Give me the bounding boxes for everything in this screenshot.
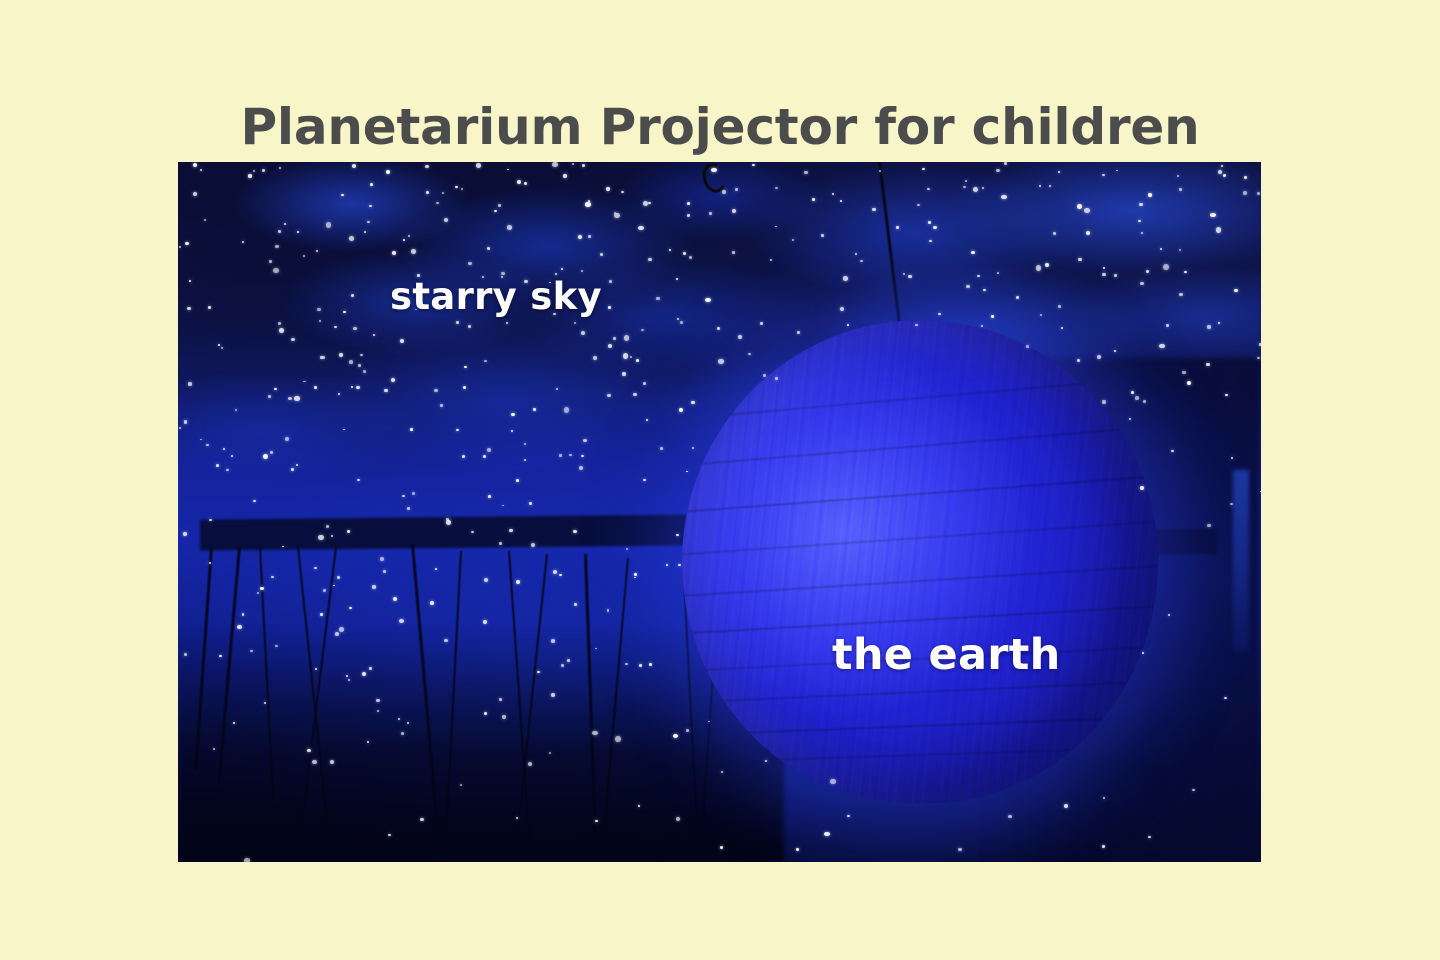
star-dot <box>524 182 527 185</box>
star-dot <box>633 393 637 396</box>
star-dot <box>879 170 881 172</box>
star-dot <box>1143 400 1146 403</box>
star-dot <box>468 262 472 265</box>
star-dot <box>200 169 202 171</box>
star-dot <box>634 573 637 576</box>
star-dot <box>209 562 211 564</box>
star-dot <box>748 353 751 355</box>
star-dot <box>303 255 305 257</box>
star-dot <box>732 209 736 213</box>
star-dot <box>462 455 465 458</box>
star-dot <box>908 275 912 279</box>
star-dot <box>320 356 323 359</box>
star-dot <box>349 607 352 610</box>
star-dot <box>402 495 405 498</box>
star-dot <box>1039 185 1041 187</box>
star-dot <box>270 451 273 453</box>
star-dot <box>483 620 487 624</box>
star-dot <box>370 183 373 186</box>
star-dot <box>333 585 335 587</box>
star-dot <box>264 702 266 704</box>
star-dot <box>564 407 570 412</box>
star-dot <box>223 448 225 450</box>
star-dot <box>456 321 459 324</box>
star-dot <box>927 188 930 190</box>
star-dot <box>1129 418 1131 420</box>
star-dot <box>372 585 376 588</box>
star-dot <box>643 201 649 207</box>
star-dot <box>678 564 680 566</box>
star-dot <box>556 388 558 390</box>
star-dot <box>1160 248 1162 250</box>
star-dot <box>1058 171 1060 173</box>
star-dot <box>903 273 905 275</box>
star-dot <box>386 170 390 174</box>
star-dot <box>231 455 233 457</box>
star-dot <box>502 715 506 719</box>
page-title: Planetarium Projector for children <box>0 96 1440 158</box>
star-dot <box>585 202 591 207</box>
star-dot <box>291 468 294 471</box>
star-dot <box>529 502 532 505</box>
star-dot <box>248 174 252 177</box>
star-dot <box>843 276 849 281</box>
star-dot <box>391 378 395 382</box>
star-dot <box>830 779 836 785</box>
star-dot <box>275 245 279 248</box>
star-dot <box>1116 170 1118 172</box>
star-dot <box>765 760 767 762</box>
star-dot <box>692 447 694 449</box>
star-dot <box>559 574 562 576</box>
star-field <box>178 162 1261 862</box>
star-dot <box>294 396 300 401</box>
star-dot <box>669 249 671 251</box>
star-dot <box>775 226 777 228</box>
star-dot <box>398 718 400 720</box>
star-dot <box>208 306 211 309</box>
star-dot <box>708 721 710 723</box>
star-dot <box>1218 170 1222 174</box>
star-dot <box>606 187 610 191</box>
star-dot <box>291 338 295 341</box>
star-dot <box>735 188 738 191</box>
star-dot <box>679 408 683 412</box>
star-dot <box>376 699 380 702</box>
star-dot <box>966 285 970 288</box>
star-dot <box>624 335 630 340</box>
star-dot <box>689 256 692 259</box>
star-dot <box>569 454 571 456</box>
star-dot <box>965 180 967 182</box>
star-dot <box>193 163 197 167</box>
star-dot <box>516 817 518 819</box>
star-dot <box>1140 486 1144 490</box>
star-dot <box>216 464 219 467</box>
star-dot <box>253 500 255 502</box>
star-dot <box>412 492 415 495</box>
star-dot <box>1077 204 1083 209</box>
star-dot <box>279 167 281 169</box>
star-dot <box>582 164 585 167</box>
star-dot <box>929 240 932 242</box>
star-dot <box>471 531 474 533</box>
star-dot <box>549 752 551 754</box>
star-dot <box>615 736 621 742</box>
star-dot <box>963 186 966 188</box>
star-dot <box>559 454 562 456</box>
star-dot <box>221 347 223 349</box>
star-dot <box>1103 797 1105 799</box>
star-dot <box>686 729 689 732</box>
star-dot <box>499 698 502 701</box>
caption-starry-sky: starry sky <box>390 275 602 318</box>
star-dot <box>444 218 448 222</box>
star-dot <box>732 251 735 253</box>
star-dot <box>362 672 366 676</box>
star-dot <box>420 818 424 821</box>
star-dot <box>343 311 346 314</box>
star-dot <box>660 447 663 450</box>
star-dot <box>384 389 388 393</box>
star-dot <box>348 679 350 681</box>
star-dot <box>643 479 645 481</box>
star-dot <box>763 374 766 377</box>
star-dot <box>1142 652 1144 654</box>
star-dot <box>997 272 999 274</box>
star-dot <box>335 632 339 636</box>
star-dot <box>593 356 597 359</box>
star-dot <box>804 171 808 175</box>
star-dot <box>621 191 624 194</box>
star-dot <box>638 805 640 807</box>
star-dot <box>347 530 350 533</box>
star-dot <box>561 664 564 667</box>
star-dot <box>392 251 396 254</box>
star-dot <box>832 193 834 195</box>
star-dot <box>1077 359 1080 362</box>
star-dot <box>1210 213 1216 217</box>
star-dot <box>1148 836 1151 838</box>
star-dot <box>278 322 281 325</box>
star-dot <box>676 534 678 536</box>
star-dot <box>401 732 404 735</box>
star-dot <box>1138 220 1141 223</box>
star-dot <box>1061 327 1063 329</box>
star-dot <box>383 570 386 573</box>
star-dot <box>507 225 513 230</box>
star-dot <box>991 315 994 318</box>
star-dot <box>320 613 323 616</box>
star-dot <box>1234 289 1238 293</box>
star-dot <box>760 322 763 325</box>
star-dot <box>502 505 504 507</box>
star-dot <box>185 242 189 245</box>
star-dot <box>351 386 353 388</box>
star-dot <box>687 202 690 205</box>
star-dot <box>983 289 986 291</box>
star-dot <box>1139 203 1143 207</box>
star-dot <box>1230 503 1233 505</box>
star-dot <box>573 530 577 533</box>
star-dot <box>1159 344 1165 349</box>
star-dot <box>410 428 413 431</box>
star-dot <box>1184 271 1186 273</box>
star-dot <box>357 479 360 482</box>
star-dot <box>339 353 343 357</box>
star-dot <box>179 427 181 429</box>
star-dot <box>213 748 215 750</box>
star-dot <box>958 848 962 851</box>
star-dot <box>206 444 209 446</box>
star-dot <box>917 204 920 206</box>
star-dot <box>187 307 191 310</box>
star-dot <box>578 235 582 239</box>
star-dot <box>352 164 356 168</box>
star-dot <box>1224 697 1227 700</box>
star-dot <box>183 532 187 536</box>
star-dot <box>691 401 695 404</box>
star-dot <box>595 648 597 650</box>
star-dot <box>296 464 298 466</box>
star-dot <box>1008 815 1012 818</box>
star-dot <box>356 386 360 389</box>
star-dot <box>484 360 487 362</box>
star-dot <box>189 280 191 282</box>
star-dot <box>600 253 603 256</box>
star-dot <box>981 325 983 327</box>
star-dot <box>1135 396 1139 400</box>
star-dot <box>393 597 397 601</box>
star-dot <box>511 430 513 432</box>
star-dot <box>369 205 372 208</box>
star-dot <box>553 570 557 574</box>
star-dot <box>1182 371 1186 375</box>
star-dot <box>607 609 609 611</box>
star-dot <box>314 386 317 389</box>
star-dot <box>456 429 459 431</box>
star-dot <box>792 239 794 241</box>
star-dot <box>524 443 526 445</box>
star-dot <box>1140 282 1144 285</box>
star-dot <box>269 260 272 263</box>
star-dot <box>1064 804 1068 808</box>
star-dot <box>444 639 448 642</box>
star-dot <box>407 722 409 724</box>
star-dot <box>1102 845 1105 848</box>
star-dot <box>507 169 509 171</box>
star-dot <box>824 832 830 836</box>
star-dot <box>297 231 299 233</box>
star-dot <box>204 219 206 221</box>
caption-the-earth: the earth <box>832 630 1061 680</box>
star-dot <box>721 771 723 773</box>
star-dot <box>608 306 611 309</box>
star-dot <box>1260 491 1262 493</box>
star-dot <box>407 507 410 510</box>
star-dot <box>483 455 486 458</box>
star-dot <box>574 322 576 324</box>
photo-figure: starry sky the earth <box>178 162 1261 862</box>
star-dot <box>400 339 404 343</box>
star-dot <box>648 202 650 204</box>
star-dot <box>977 275 980 277</box>
star-dot <box>367 741 369 743</box>
star-dot <box>408 235 410 237</box>
star-dot <box>263 454 269 459</box>
star-dot <box>388 834 391 837</box>
star-dot <box>528 762 532 766</box>
star-dot <box>1168 614 1170 616</box>
star-dot <box>561 268 563 270</box>
star-dot <box>1114 350 1116 352</box>
star-dot <box>933 226 937 229</box>
star-dot <box>455 186 457 188</box>
star-dot <box>369 667 372 670</box>
star-dot <box>337 576 340 579</box>
star-dot <box>676 817 680 821</box>
star-dot <box>242 241 244 243</box>
star-dot <box>487 247 490 250</box>
star-dot <box>796 848 799 851</box>
star-dot <box>411 249 417 254</box>
star-dot <box>1086 231 1090 235</box>
star-dot <box>506 322 508 324</box>
star-dot <box>184 653 187 656</box>
star-dot <box>643 382 646 385</box>
star-dot <box>346 675 348 677</box>
star-dot <box>574 603 577 606</box>
star-dot <box>326 525 329 528</box>
star-dot <box>1078 258 1082 262</box>
star-dot <box>1097 355 1101 359</box>
star-dot <box>973 187 979 192</box>
star-dot <box>531 543 535 547</box>
star-dot <box>331 535 333 537</box>
star-dot <box>581 270 583 272</box>
star-dot <box>499 542 502 544</box>
star-dot <box>551 693 555 697</box>
star-dot <box>622 372 626 376</box>
star-dot <box>253 170 255 172</box>
star-dot <box>316 250 318 252</box>
star-dot <box>720 846 723 849</box>
star-dot <box>464 366 467 368</box>
star-dot <box>488 495 491 498</box>
star-dot <box>581 331 585 335</box>
slide-canvas: Planetarium Projector for children starr… <box>0 0 1440 960</box>
star-dot <box>1053 232 1056 235</box>
star-dot <box>1001 195 1007 200</box>
star-dot <box>938 313 940 315</box>
star-dot <box>349 360 353 364</box>
star-dot <box>460 784 462 786</box>
star-dot <box>1207 325 1211 329</box>
star-dot <box>588 200 590 202</box>
star-dot <box>312 760 318 764</box>
star-dot <box>1259 343 1261 345</box>
star-dot <box>1040 314 1042 316</box>
star-dot <box>377 710 379 712</box>
star-dot <box>330 760 334 764</box>
star-dot <box>686 471 688 473</box>
star-dot <box>922 168 925 171</box>
star-dot <box>847 815 850 818</box>
star-dot <box>1102 273 1106 276</box>
star-dot <box>326 222 332 228</box>
star-dot <box>646 419 648 421</box>
star-dot <box>338 393 340 395</box>
star-dot <box>711 168 717 172</box>
star-dot <box>1103 267 1105 269</box>
star-dot <box>636 359 639 362</box>
star-dot <box>235 409 237 411</box>
star-dot <box>572 163 574 165</box>
star-dot <box>595 820 598 823</box>
star-dot <box>1026 345 1029 348</box>
star-dot <box>821 234 824 237</box>
star-dot <box>563 174 567 178</box>
star-dot <box>426 191 429 194</box>
star-dot <box>537 671 540 673</box>
star-dot <box>1218 322 1220 324</box>
star-dot <box>279 328 285 333</box>
star-dot <box>673 734 679 738</box>
star-dot <box>634 577 636 579</box>
star-dot <box>498 204 501 207</box>
star-dot <box>677 318 679 320</box>
star-dot <box>840 307 844 311</box>
star-dot <box>487 448 491 452</box>
star-dot <box>718 359 724 364</box>
star-dot <box>315 668 317 670</box>
star-dot <box>271 576 274 579</box>
star-dot <box>476 163 482 168</box>
star-dot <box>533 408 536 411</box>
star-dot <box>244 858 250 862</box>
star-dot <box>915 324 918 326</box>
star-dot <box>1148 193 1152 196</box>
star-dot <box>705 298 711 302</box>
star-dot <box>1045 263 1049 267</box>
star-dot <box>1216 227 1222 233</box>
star-dot <box>639 664 642 667</box>
star-dot <box>1225 394 1228 397</box>
star-dot <box>278 230 281 233</box>
star-dot <box>625 663 627 665</box>
star-dot <box>812 198 815 201</box>
star-dot <box>319 320 321 322</box>
star-dot <box>1171 450 1173 452</box>
star-dot <box>623 353 629 359</box>
star-dot <box>666 564 668 566</box>
star-dot <box>752 164 755 166</box>
star-dot <box>494 210 497 213</box>
star-dot <box>1058 305 1061 308</box>
star-dot <box>588 235 591 238</box>
star-dot <box>1131 391 1134 394</box>
star-dot <box>275 645 278 647</box>
star-dot <box>262 169 265 172</box>
star-dot <box>797 331 800 334</box>
star-dot <box>288 397 292 400</box>
star-dot <box>1206 363 1210 366</box>
star-dot <box>971 251 975 254</box>
star-dot <box>516 479 519 482</box>
star-dot <box>193 192 197 196</box>
star-dot <box>257 592 259 594</box>
star-dot <box>250 650 253 652</box>
